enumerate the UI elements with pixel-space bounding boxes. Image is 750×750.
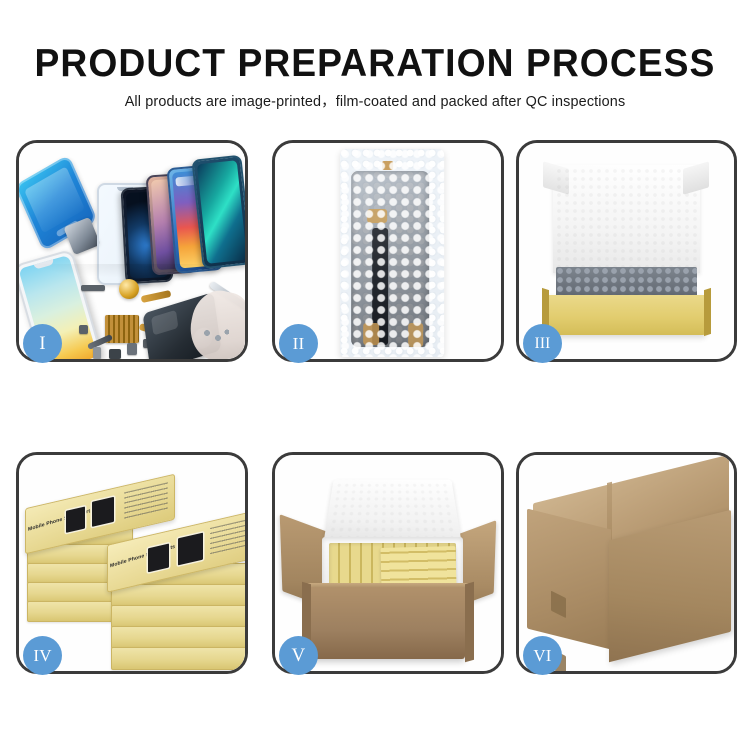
tape-patch-3 [408, 323, 423, 347]
stacked-box-right-4 [111, 626, 245, 649]
foam-texture [556, 168, 696, 273]
carton-body [311, 587, 465, 659]
process-step-grid: I II [0, 0, 750, 750]
process-step-5[interactable]: V [272, 452, 504, 674]
step-badge-1: I [23, 324, 62, 363]
box-spec-text-lines [124, 482, 168, 524]
poster-canvas: PRODUCT PREPARATION PROCESS All products… [0, 0, 750, 750]
step-badge-6: VI [523, 636, 562, 675]
flex-cable-1 [141, 290, 172, 303]
part-chip-4 [127, 343, 137, 355]
tape-patch-upper [551, 591, 566, 618]
process-step-4[interactable]: Mobile Phone Spare Parts Mobile Phone Sp… [16, 452, 248, 674]
box-art-phone-1 [66, 506, 85, 532]
stacked-box-right-2 [111, 584, 245, 607]
stacked-box-right-3 [111, 605, 245, 628]
tape-patch-1 [367, 209, 387, 223]
box-art-phone-3 [148, 543, 169, 572]
kraft-box-body [547, 295, 706, 335]
screws-group [203, 329, 229, 343]
yellow-boxes-row-2 [381, 546, 457, 588]
part-chip-3 [109, 349, 121, 359]
foam-lid-open [324, 480, 461, 542]
step-badge-2: II [279, 324, 318, 363]
foam-lid-texture [329, 483, 456, 537]
sealed-carton [527, 479, 726, 651]
box-art-phone-4 [178, 533, 203, 566]
carton-open-scene [275, 471, 501, 661]
step-badge-5: V [279, 636, 318, 675]
part-chip-2 [93, 347, 101, 359]
stacked-box-right-5 [111, 647, 245, 670]
process-step-6[interactable]: VI [516, 452, 737, 674]
process-step-3[interactable]: III [516, 140, 737, 362]
wrapped-screen [351, 171, 429, 347]
speaker-module [119, 279, 139, 299]
part-chip-1 [79, 325, 88, 334]
bubble-wrap-bag [340, 149, 444, 357]
process-step-1[interactable]: I [16, 140, 248, 362]
retail-box-stack: Mobile Phone Spare Parts Mobile Phone Sp… [23, 467, 241, 665]
tape-patch-2 [363, 323, 379, 345]
process-step-2[interactable]: II [272, 140, 504, 362]
part-strip-1 [81, 285, 105, 291]
step-badge-3: III [523, 324, 562, 363]
foam-sheet-lid [553, 165, 699, 273]
step-badge-4: IV [23, 636, 62, 675]
box-spec-text-lines-2 [210, 518, 245, 560]
carton-left-face [527, 509, 611, 650]
tape-tab-top [382, 161, 393, 170]
kraft-box-open [519, 165, 734, 335]
box-art-phone-2 [92, 497, 114, 527]
